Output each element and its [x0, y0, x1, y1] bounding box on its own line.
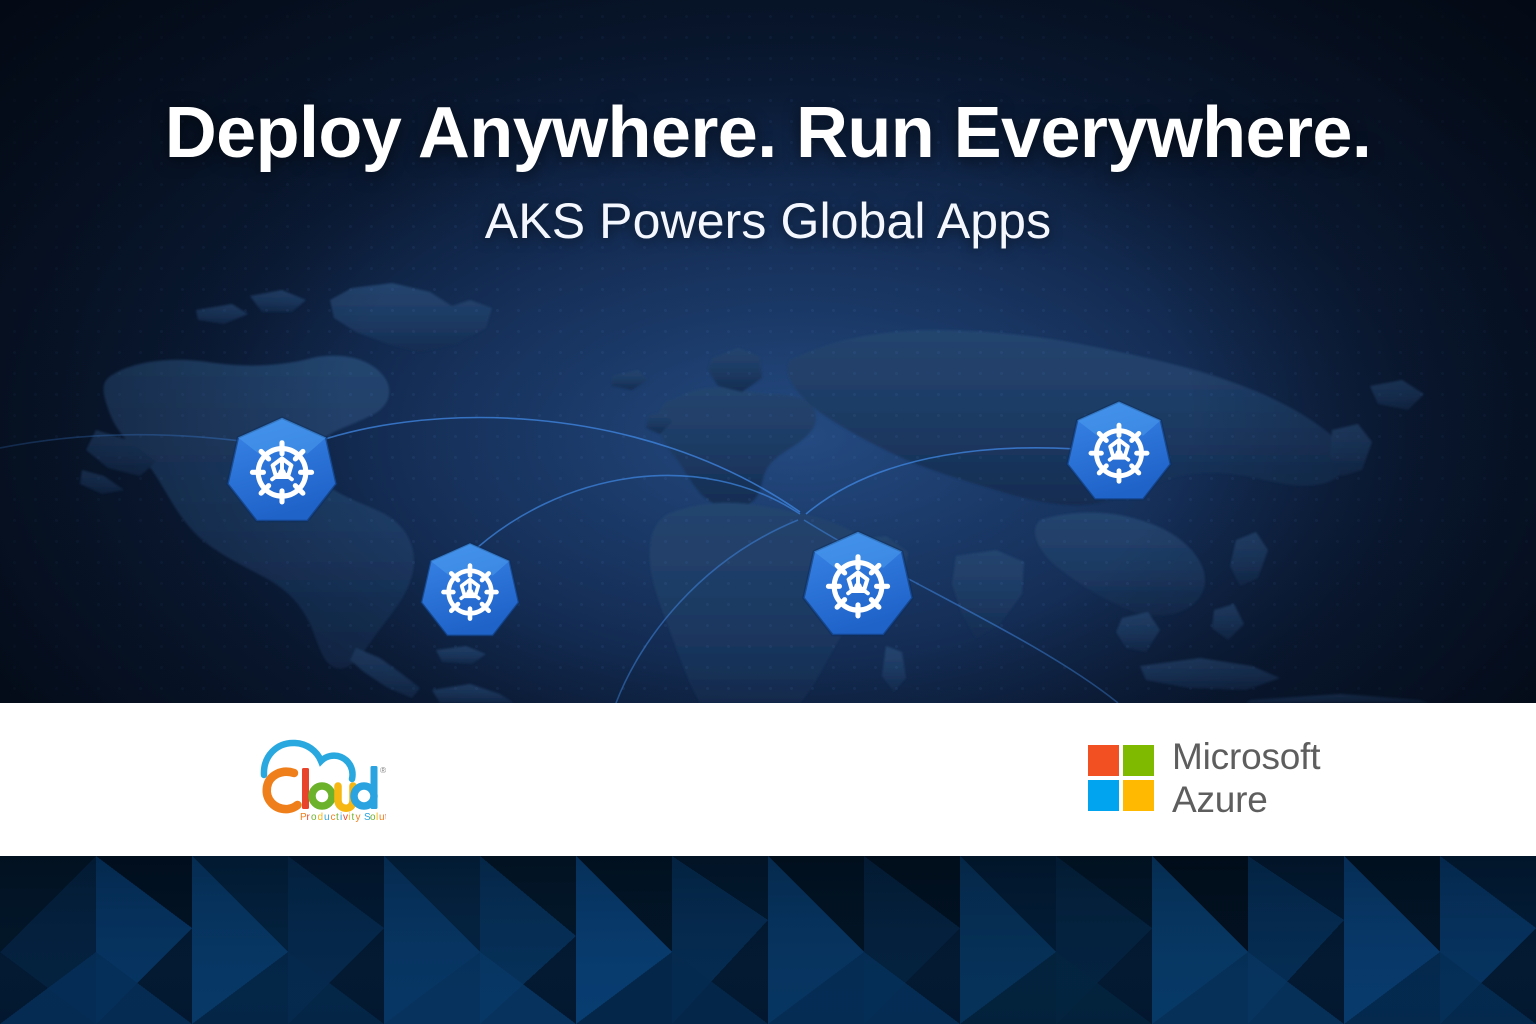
svg-text:y: y: [356, 812, 361, 823]
aks-marketing-banner: Deploy Anywhere. Run Everywhere. AKS Pow…: [0, 0, 1536, 1024]
page-title: Deploy Anywhere. Run Everywhere.: [0, 96, 1536, 172]
registered-mark: ®: [380, 765, 386, 775]
square-bottom-left: [1088, 780, 1119, 811]
square-top-left: [1088, 745, 1119, 776]
bottom-polygon-band: [0, 856, 1536, 1024]
cloud-productivity-solutions-logo[interactable]: ® P r o d u c t i v i t y S o l u t: [246, 727, 386, 827]
azure-wordmark: Microsoft Azure: [1172, 738, 1320, 818]
cloud-letter-d: [354, 766, 378, 809]
cloud-logo-tagline: P r o d u c t i v i t y S o l u t: [300, 812, 386, 823]
low-poly-pattern: [0, 856, 1536, 1024]
node-north-america-west[interactable]: [224, 412, 340, 528]
svg-text:d: d: [318, 812, 324, 823]
node-north-america-east[interactable]: [418, 538, 522, 642]
svg-text:r: r: [307, 812, 311, 823]
svg-text:l: l: [376, 812, 378, 823]
svg-text:o: o: [370, 812, 376, 823]
microsoft-azure-logo[interactable]: Microsoft Azure: [1088, 735, 1320, 821]
azure-wordmark-line1: Microsoft: [1172, 738, 1320, 775]
svg-text:v: v: [343, 812, 348, 823]
square-bottom-right: [1123, 780, 1154, 811]
kubernetes-icon: [418, 538, 522, 642]
microsoft-logo-squares: [1088, 745, 1154, 811]
svg-text:o: o: [311, 812, 317, 823]
svg-text:u: u: [324, 812, 330, 823]
kubernetes-icon: [800, 526, 916, 642]
page-subtitle: AKS Powers Global Apps: [0, 192, 1536, 250]
cloud-letter-c: [267, 772, 298, 809]
svg-text:c: c: [331, 812, 336, 823]
svg-text:P: P: [300, 812, 307, 823]
title-block: Deploy Anywhere. Run Everywhere. AKS Pow…: [0, 96, 1536, 250]
cloud-letter-o: [312, 786, 332, 806]
svg-text:t: t: [336, 812, 339, 823]
svg-text:i: i: [349, 812, 351, 823]
cloud-letter-l: [302, 768, 309, 809]
kubernetes-icon: [1064, 396, 1174, 506]
svg-text:t: t: [385, 812, 386, 823]
azure-wordmark-line2: Azure: [1172, 781, 1320, 818]
node-europe-middle-east[interactable]: [800, 526, 916, 642]
square-top-right: [1123, 745, 1154, 776]
svg-text:t: t: [352, 812, 355, 823]
cloud-logo-graphic: ® P r o d u c t i v i t y S o l u t: [246, 727, 386, 827]
svg-text:i: i: [340, 812, 342, 823]
svg-text:u: u: [379, 812, 385, 823]
node-asia-pacific[interactable]: [1064, 396, 1174, 506]
kubernetes-icon: [224, 412, 340, 528]
hero-section: Deploy Anywhere. Run Everywhere. AKS Pow…: [0, 0, 1536, 703]
